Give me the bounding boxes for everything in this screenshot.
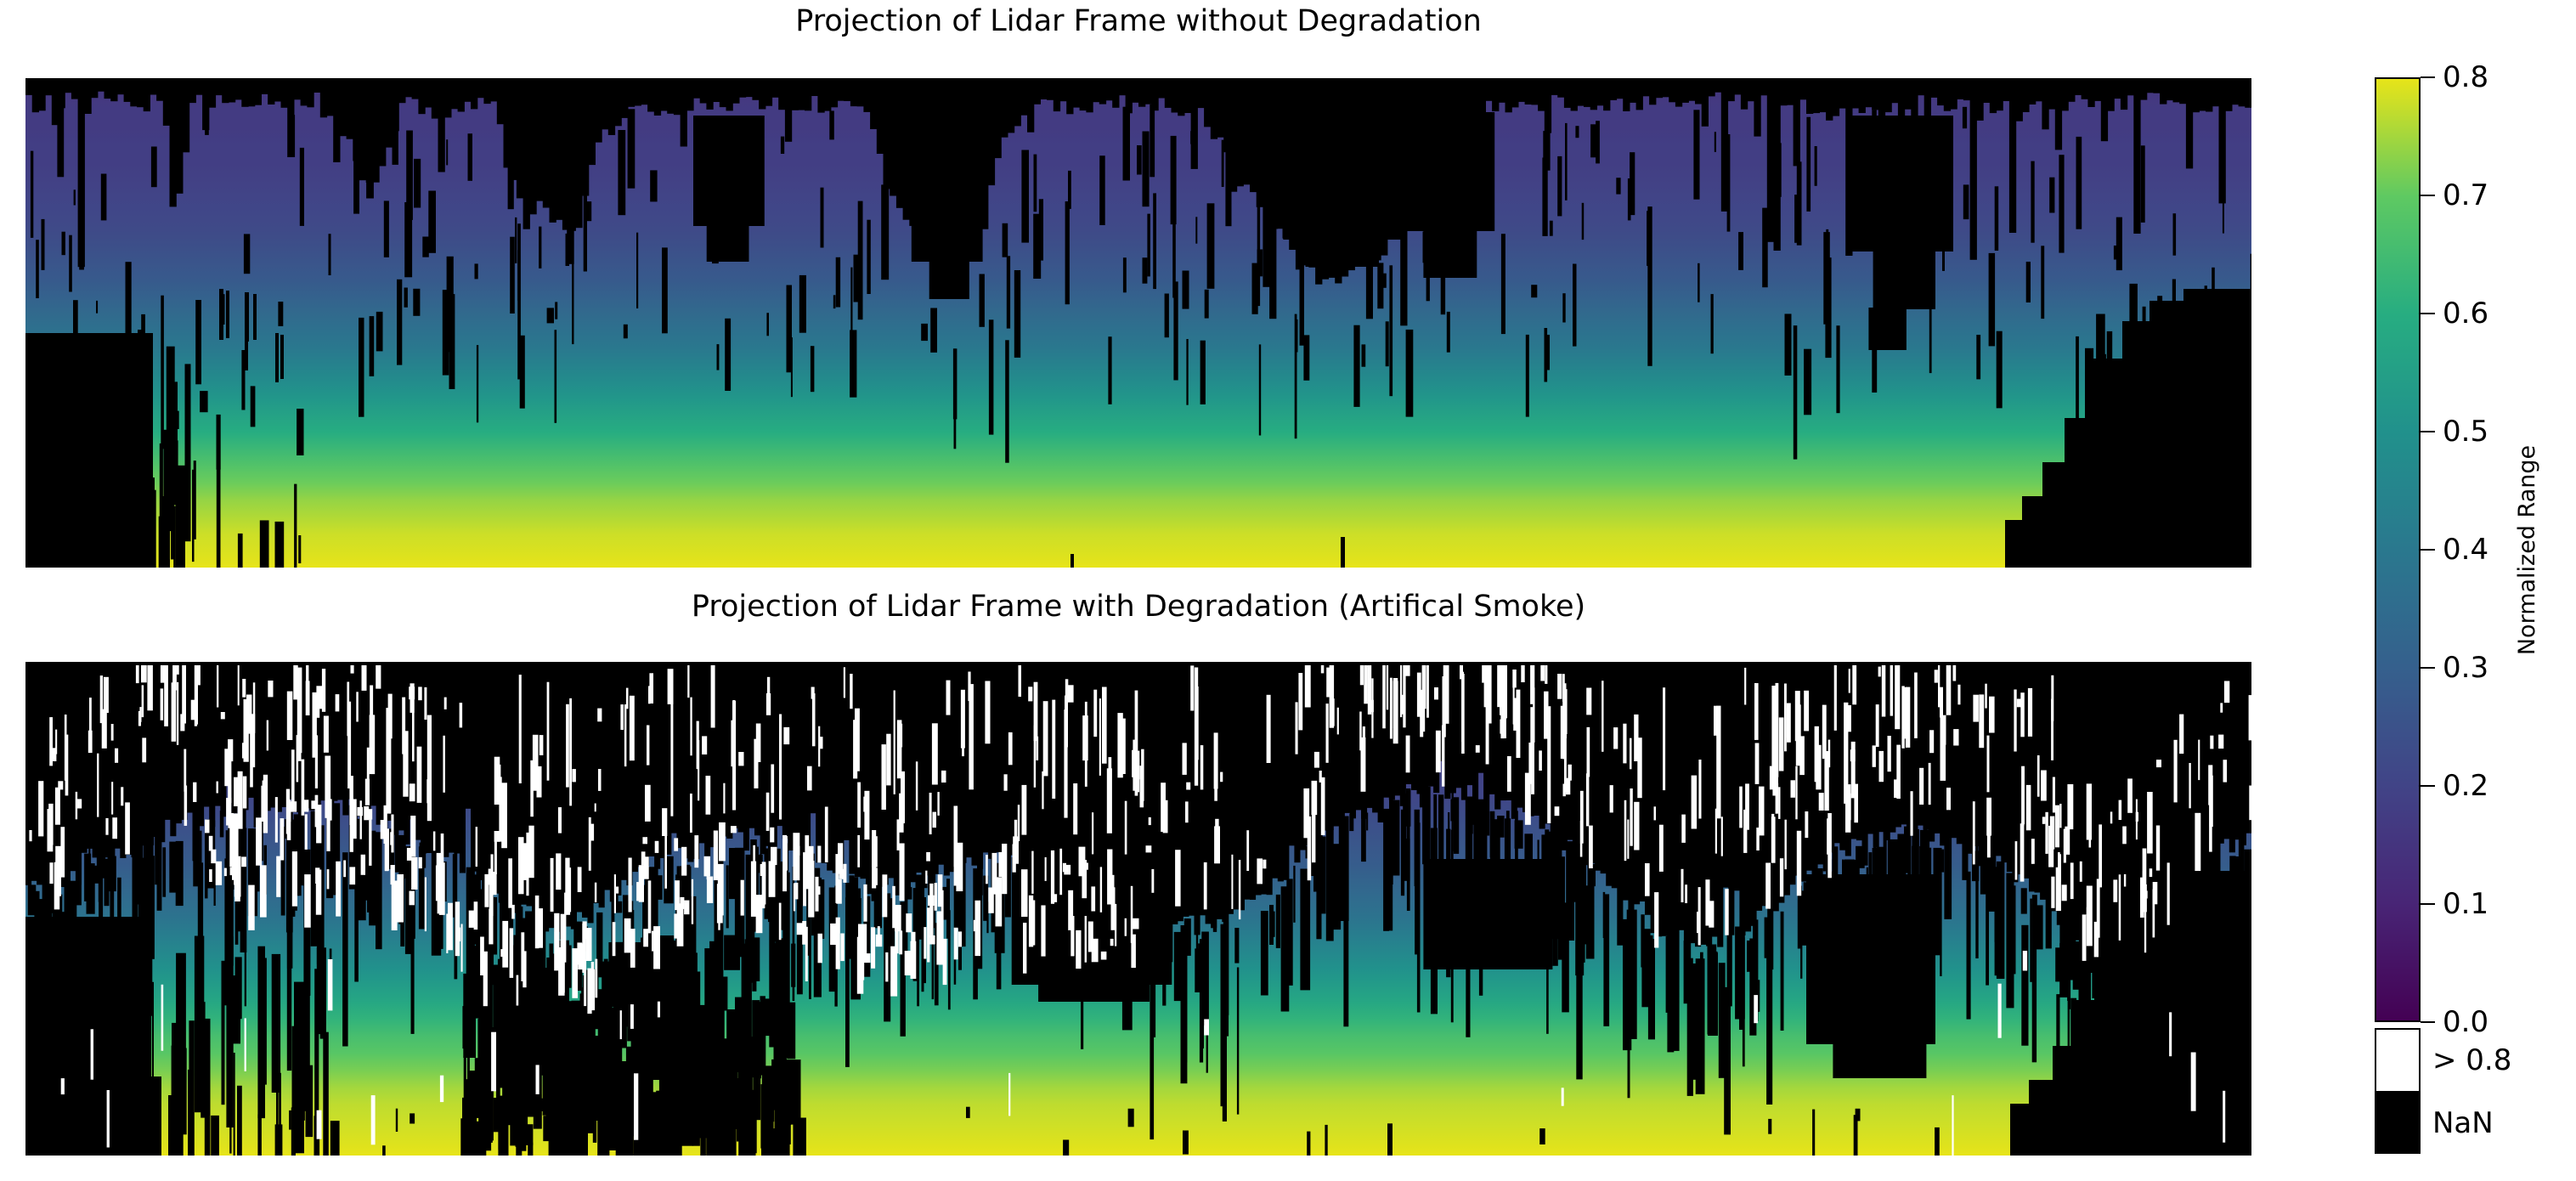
colorbar-tick-mark bbox=[2421, 195, 2435, 196]
legend-swatch-over-range bbox=[2376, 1030, 2419, 1091]
colorbar-tick-mark bbox=[2421, 431, 2435, 432]
legend: > 0.8 NaN bbox=[2375, 1028, 2570, 1156]
legend-label-over-range: > 0.8 bbox=[2432, 1046, 2511, 1075]
colorbar-tick-label: 0.6 bbox=[2443, 299, 2488, 328]
colorbar-tick-label: 0.1 bbox=[2443, 890, 2488, 918]
colorbar-tick-mark bbox=[2421, 667, 2435, 669]
legend-label-nan: NaN bbox=[2432, 1109, 2494, 1138]
legend-swatch-nan bbox=[2376, 1091, 2419, 1152]
colorbar bbox=[2375, 77, 2421, 1022]
colorbar-tick-mark bbox=[2421, 76, 2435, 78]
colorbar-tick-mark bbox=[2421, 313, 2435, 314]
colorbar-tick-mark bbox=[2421, 903, 2435, 905]
panel-1-title: Projection of Lidar Frame without Degrad… bbox=[25, 7, 2251, 37]
lidar-projection-panel-smoke bbox=[25, 662, 2251, 1156]
colorbar-tick-mark bbox=[2421, 785, 2435, 787]
over-range-speckles bbox=[25, 662, 2251, 1156]
panel-2-title: Projection of Lidar Frame with Degradati… bbox=[25, 592, 2251, 622]
colorbar-tick-mark bbox=[2421, 549, 2435, 551]
legend-swatch-group bbox=[2375, 1028, 2421, 1154]
colorbar-axis-label: Normalized Range bbox=[2508, 77, 2547, 1022]
colorbar-tick-label: 0.3 bbox=[2443, 653, 2488, 682]
lidar-projection-panel-clean bbox=[25, 78, 2251, 568]
colorbar-tick-label: 0.7 bbox=[2443, 181, 2488, 210]
colorbar-gradient bbox=[2376, 79, 2419, 1020]
colorbar-tick-label: 0.8 bbox=[2443, 63, 2488, 92]
colorbar-tick-label: 0.2 bbox=[2443, 771, 2488, 800]
nan-mask-clean bbox=[25, 78, 2251, 568]
colorbar-tick-label: 0.5 bbox=[2443, 417, 2488, 446]
colorbar-tick-label: 0.4 bbox=[2443, 535, 2488, 564]
colorbar-tick-mark bbox=[2421, 1021, 2435, 1023]
colorbar-axis-label-text: Normalized Range bbox=[2515, 444, 2541, 654]
